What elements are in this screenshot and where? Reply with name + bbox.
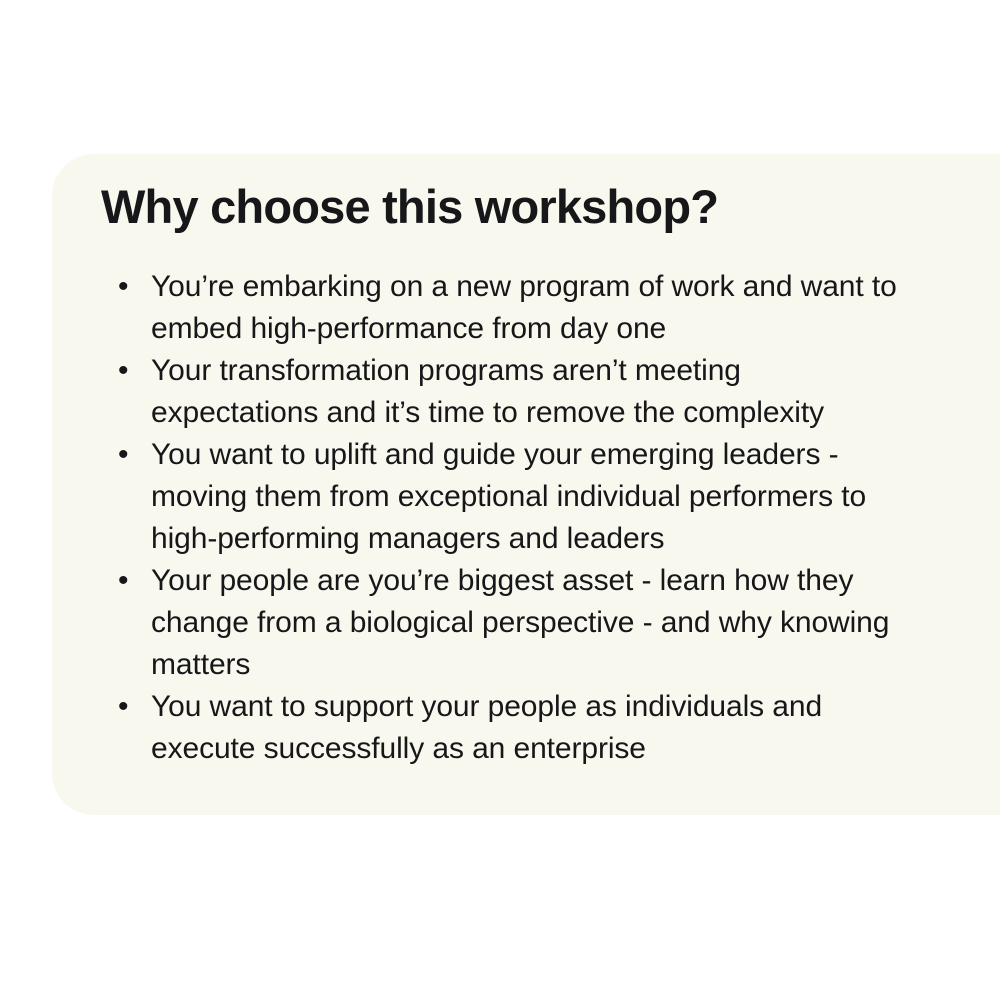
list-item-text: You’re embarking on a new program of wor… [151, 266, 911, 350]
list-item-text: Your transformation programs aren’t meet… [151, 350, 911, 434]
list-item: • You want to support your people as ind… [101, 686, 911, 770]
why-choose-card: Why choose this workshop? • You’re embar… [52, 154, 1000, 815]
list-item-text: You want to uplift and guide your emergi… [151, 434, 911, 560]
list-item: • You want to uplift and guide your emer… [101, 434, 911, 560]
list-item-text: You want to support your people as indiv… [151, 686, 911, 770]
page-title: Why choose this workshop? [101, 180, 718, 235]
list-item: • You’re embarking on a new program of w… [101, 266, 911, 350]
bullet-point-icon: • [118, 266, 128, 308]
slide-canvas: Why choose this workshop? • You’re embar… [0, 0, 1000, 1000]
list-item: • Your people are you’re biggest asset -… [101, 560, 911, 686]
bullet-point-icon: • [118, 686, 128, 728]
bullet-point-icon: • [118, 350, 128, 392]
list-item-text: Your people are you’re biggest asset - l… [151, 560, 911, 686]
benefits-bullet-list: • You’re embarking on a new program of w… [101, 266, 940, 770]
list-item: • Your transformation programs aren’t me… [101, 350, 911, 434]
bullet-point-icon: • [118, 560, 128, 602]
bullet-point-icon: • [118, 434, 128, 476]
